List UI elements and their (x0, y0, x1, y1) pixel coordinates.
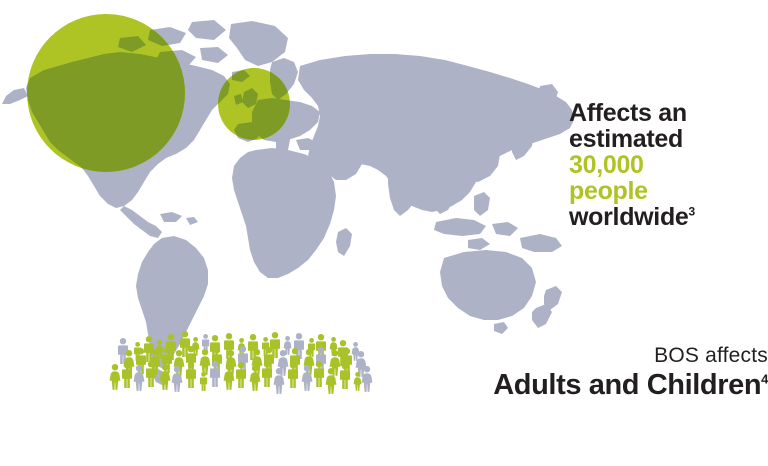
headline-block: BOS affects Adults and Children4 (408, 344, 768, 402)
statistic-value: 30,000 (569, 152, 768, 178)
person-green-child-female (192, 337, 200, 356)
person-gray-male (294, 333, 304, 359)
headline-eyebrow: BOS affects (408, 344, 768, 368)
person-green-female (200, 349, 211, 375)
statistic-text-block: Affects an estimated 30,000 people world… (569, 100, 768, 230)
statistic-line-1: Affects an (569, 100, 768, 126)
person-green-female (110, 364, 121, 390)
statistic-scope-text: worldwide (569, 203, 689, 231)
person-green-male (186, 362, 196, 388)
person-green-female (252, 349, 263, 375)
statistic-unit: people (569, 178, 768, 204)
person-green-male (248, 334, 258, 360)
headline-footnote-marker: 4 (761, 371, 768, 386)
person-green-male (270, 332, 280, 358)
person-green-female (326, 368, 337, 394)
headline-main-text: Adults and Children (493, 369, 761, 401)
statistic-line-2: estimated (569, 126, 768, 152)
infographic-canvas: Affects an estimated 30,000 people world… (0, 0, 768, 466)
statistic-scope: worldwide3 (569, 204, 768, 230)
crowd-of-people-pictogram (104, 328, 384, 418)
person-gray-female (274, 368, 285, 394)
person-gray-child-female (352, 342, 360, 361)
headline-main: Adults and Children4 (408, 369, 768, 402)
statistic-footnote-marker: 3 (689, 205, 695, 219)
